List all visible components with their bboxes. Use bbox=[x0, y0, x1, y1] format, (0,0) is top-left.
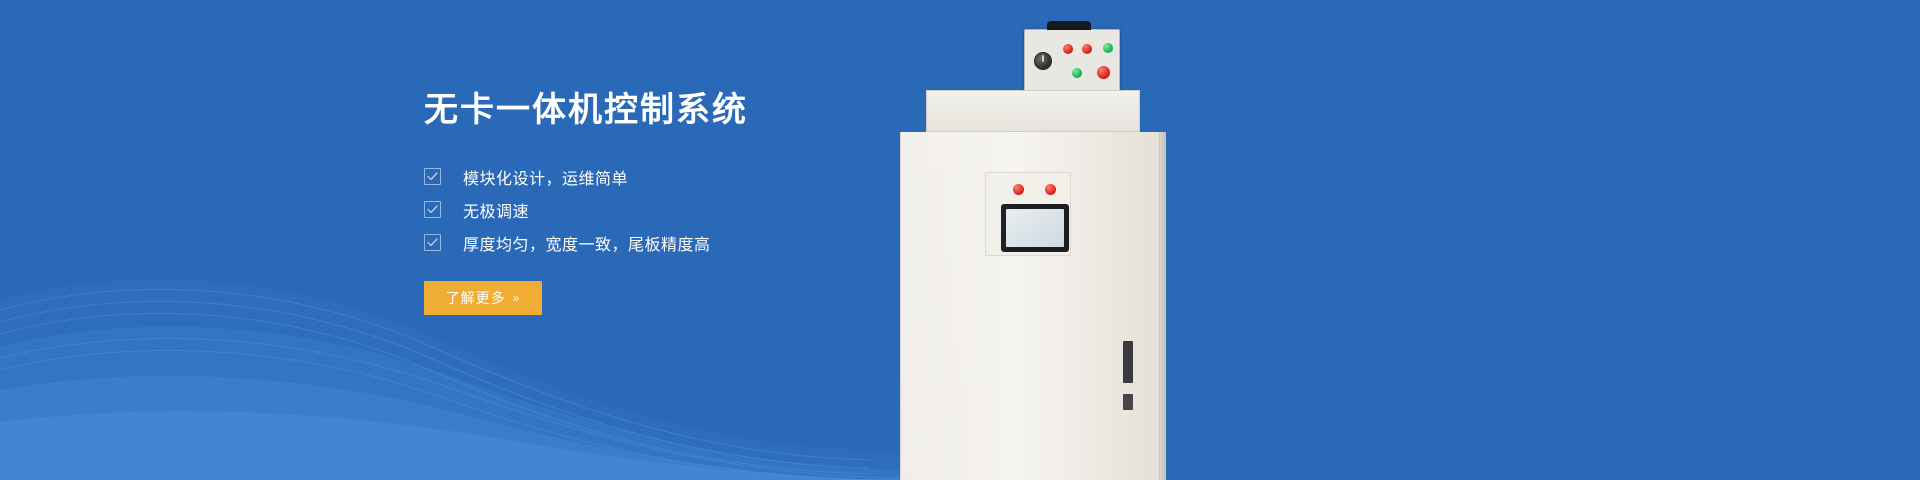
feature-item-label: 模块化设计，运维简单 bbox=[463, 165, 628, 189]
indicator-lamp-red bbox=[1097, 66, 1110, 79]
control-box bbox=[1024, 29, 1120, 92]
hero-banner: 无卡一体机控制系统 模块化设计，运维简单 无极调速 bbox=[0, 0, 1920, 480]
feature-item-label: 无极调速 bbox=[463, 198, 529, 222]
feature-list: 模块化设计，运维简单 无极调速 厚度均匀，宽度一致，尾板精度高 bbox=[424, 160, 984, 259]
cabinet-side-edge bbox=[1160, 132, 1166, 480]
panel-lamp-red bbox=[1045, 184, 1056, 195]
checkbox-checked-icon bbox=[424, 201, 441, 218]
checkbox-checked-icon bbox=[424, 168, 441, 185]
rotary-knob-icon bbox=[1034, 52, 1052, 70]
hero-content: 无卡一体机控制系统 模块化设计，运维简单 无极调速 bbox=[424, 88, 984, 315]
checkbox-checked-icon bbox=[424, 234, 441, 251]
indicator-lamp-green bbox=[1072, 68, 1082, 78]
feature-item-1: 模块化设计，运维简单 bbox=[424, 160, 984, 193]
indicator-lamp-green bbox=[1103, 43, 1113, 53]
indicator-lamp-red bbox=[1082, 44, 1092, 54]
cabinet-vent-lower bbox=[1123, 394, 1133, 410]
feature-item-3: 厚度均匀，宽度一致，尾板精度高 bbox=[424, 226, 984, 259]
learn-more-button[interactable]: 了解更多 » bbox=[424, 281, 542, 315]
touchscreen-display bbox=[1001, 204, 1069, 252]
indicator-lamp-red bbox=[1063, 44, 1073, 54]
cabinet-vent bbox=[1123, 341, 1133, 383]
feature-item-2: 无极调速 bbox=[424, 193, 984, 226]
learn-more-label: 了解更多 bbox=[446, 288, 506, 308]
cta-wrapper: 了解更多 » bbox=[424, 281, 984, 315]
chevron-right-icon: » bbox=[513, 291, 521, 305]
panel-lamp-red bbox=[1013, 184, 1024, 195]
page-title: 无卡一体机控制系统 bbox=[424, 88, 984, 132]
feature-item-label: 厚度均匀，宽度一致，尾板精度高 bbox=[463, 231, 711, 255]
screen-surface bbox=[1006, 209, 1064, 247]
